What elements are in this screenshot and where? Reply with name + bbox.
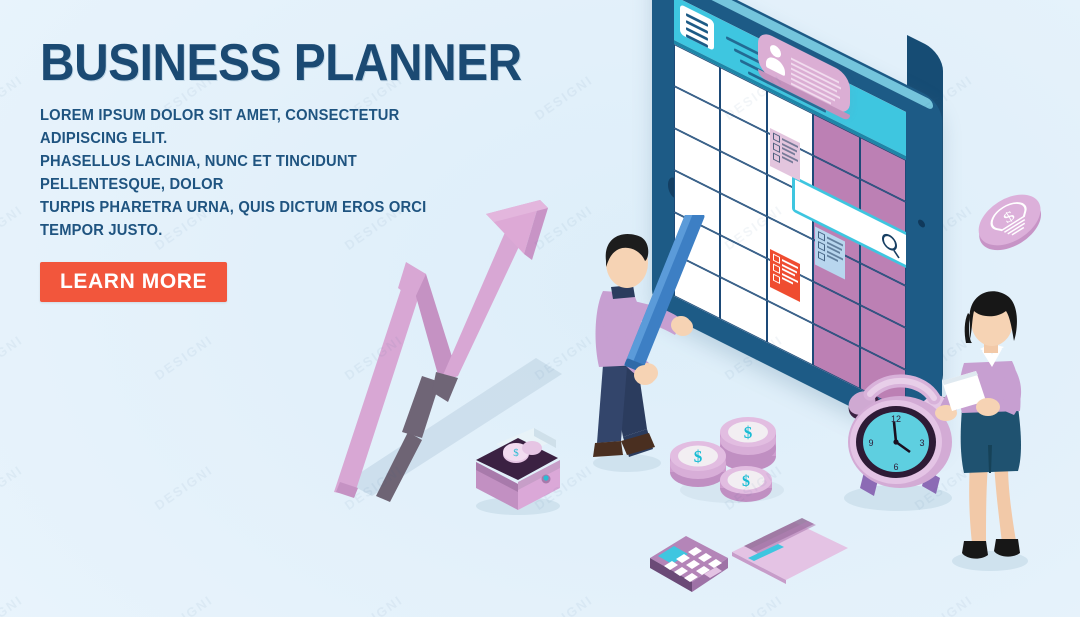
hero-body-line-2: PHASELLUS LACINIA, NUNC ET TINCIDUNT PEL… [40,153,357,193]
illustration-canvas: BUSINESS PLANNER LOREM IPSUM DOLOR SIT A… [0,0,1080,617]
watermark-text: DESIGNI [152,592,216,617]
man-with-pencil [575,215,705,475]
watermark-text: DESIGNI [0,332,26,383]
svg-text:$: $ [742,473,750,490]
watermark-text: DESIGNI [912,592,976,617]
watermark-text: DESIGNI [532,592,596,617]
watermark-text: DESIGNI [532,72,596,123]
calculator [640,512,730,592]
clock-numeral-3: 3 [919,438,924,448]
clock-numeral-12: 12 [891,414,901,424]
watermark-text: DESIGNI [0,462,26,513]
svg-text:$: $ [744,423,753,442]
watermark-text: DESIGNI [342,592,406,617]
magnifier-icon [882,231,897,254]
woman-with-tablet [930,285,1040,575]
watermark-text: DESIGNI [152,332,216,383]
watermark-text: DESIGNI [0,202,26,253]
page-title: BUSINESS PLANNER [40,36,408,90]
credit-card [726,508,846,588]
idea-money-badge[interactable]: $ [971,193,1045,267]
watermark-text: DESIGNI [0,592,26,617]
person-avatar-body [766,54,785,77]
watermark-text: DESIGNI [0,72,26,123]
wallet-with-coins: $ [460,418,570,508]
watermark-text: DESIGNI [152,462,216,513]
clock-numeral-9: 9 [868,438,873,448]
hero-body-line-1: LOREM IPSUM DOLOR SIT AMET, CONSECTETUR … [40,107,399,147]
clock-numeral-6: 6 [893,462,898,472]
learn-more-button[interactable]: LEARN MORE [40,262,227,302]
